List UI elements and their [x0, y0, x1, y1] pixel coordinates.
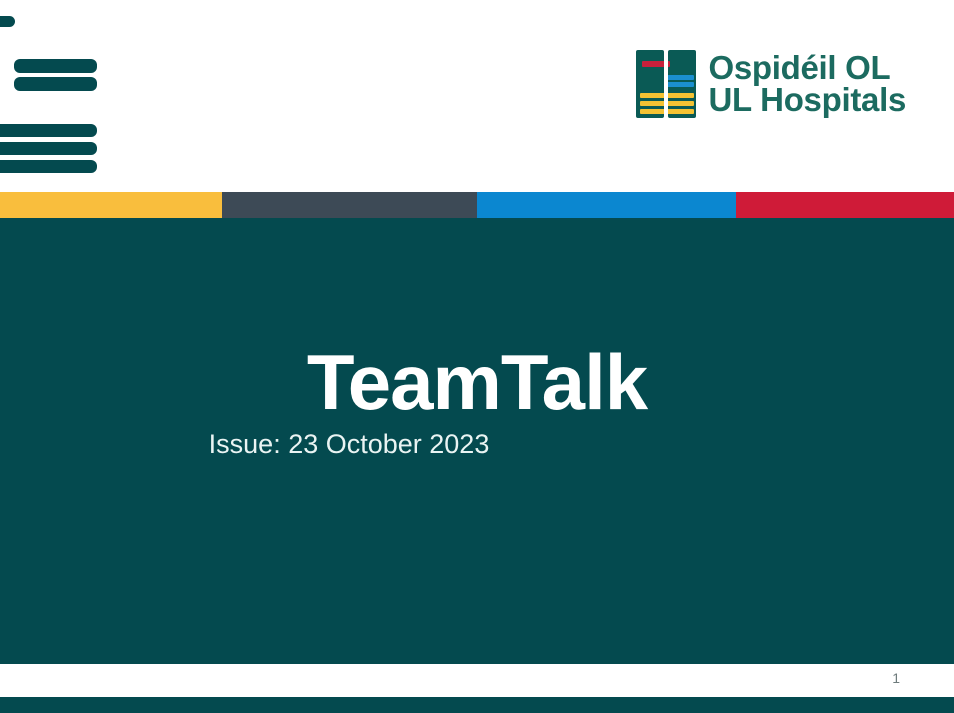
slide: Ospidéil OL UL Hospitals TeamTalk Issue:…: [0, 0, 954, 713]
logo-panel-gap: [664, 50, 668, 118]
ul-hospitals-logo: Ospidéil OL UL Hospitals: [636, 50, 907, 118]
decor-bar-4: [0, 142, 97, 155]
brand-color-band: [0, 192, 954, 218]
slide-header: Ospidéil OL UL Hospitals: [0, 0, 954, 192]
logo-accent-blue-2: [666, 82, 694, 87]
decor-bar-1: [14, 59, 97, 73]
stacked-bars-decoration: [0, 0, 110, 185]
logo-line-irish: Ospidéil OL: [709, 52, 907, 84]
page-title: TeamTalk: [0, 343, 954, 421]
logo-line-english: UL Hospitals: [709, 84, 907, 116]
band-segment-blue: [477, 192, 736, 218]
band-segment-slate: [222, 192, 477, 218]
logo-accent-blue-1: [666, 75, 694, 80]
page-number: 1: [892, 670, 900, 686]
issue-subtitle: Issue: 23 October 2023: [0, 429, 954, 460]
decor-bar-2: [14, 77, 97, 91]
slide-body: TeamTalk Issue: 23 October 2023: [0, 218, 954, 664]
logo-mark-icon: [636, 50, 696, 118]
band-segment-red: [736, 192, 954, 218]
decor-bar-3: [0, 124, 97, 137]
logo-wordmark: Ospidéil OL UL Hospitals: [709, 52, 907, 117]
decor-bar-5: [0, 160, 97, 173]
title-block: TeamTalk Issue: 23 October 2023: [0, 343, 954, 460]
footer-accent-bar: [0, 697, 954, 713]
footer-strip: 1: [0, 664, 954, 697]
decor-bar-0: [0, 16, 15, 27]
band-segment-yellow: [0, 192, 222, 218]
